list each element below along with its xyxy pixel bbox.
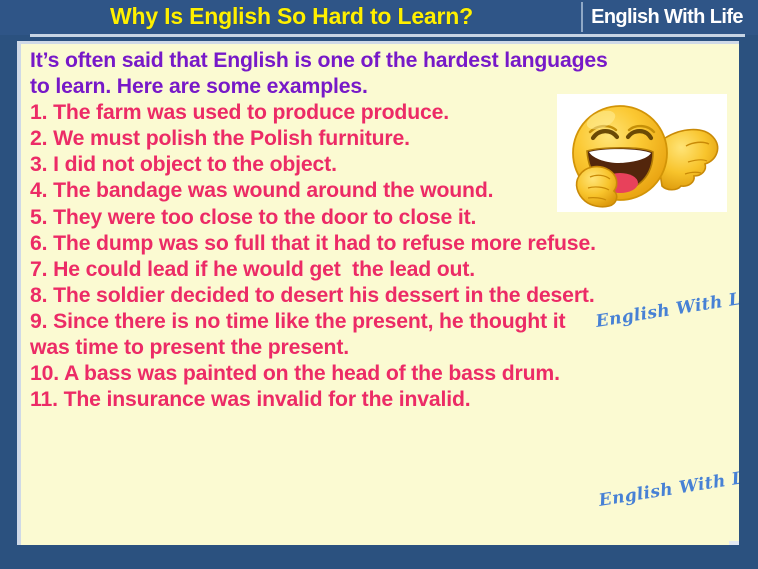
laughing-pointing-emoji-image <box>557 94 727 212</box>
list-item-continuation: was time to present the present. <box>30 335 731 361</box>
laughing-emoji-icon <box>557 94 727 212</box>
brand-badge: English With Life <box>581 2 753 32</box>
list-item: 11. The insurance was invalid for the in… <box>30 387 731 413</box>
slide-canvas: Why Is English So Hard to Learn? English… <box>0 0 758 569</box>
content-card-inner: It’s often said that English is one of t… <box>21 44 739 545</box>
list-item: 8. The soldier decided to desert his des… <box>30 283 731 309</box>
list-item: 6. The dump was so full that it had to r… <box>30 231 731 257</box>
brand-badge-divider <box>581 2 583 32</box>
card-corner-accent <box>729 541 739 545</box>
header-bar: Why Is English So Hard to Learn? English… <box>0 0 758 35</box>
brand-badge-label: English With Life <box>591 6 743 29</box>
list-item: 10. A bass was painted on the head of th… <box>30 361 731 387</box>
list-item: 7. He could lead if he would get the lea… <box>30 257 731 283</box>
content-card: It’s often said that English is one of t… <box>17 41 739 545</box>
header-divider <box>30 34 745 37</box>
intro-line: It’s often said that English is one of t… <box>30 48 731 74</box>
